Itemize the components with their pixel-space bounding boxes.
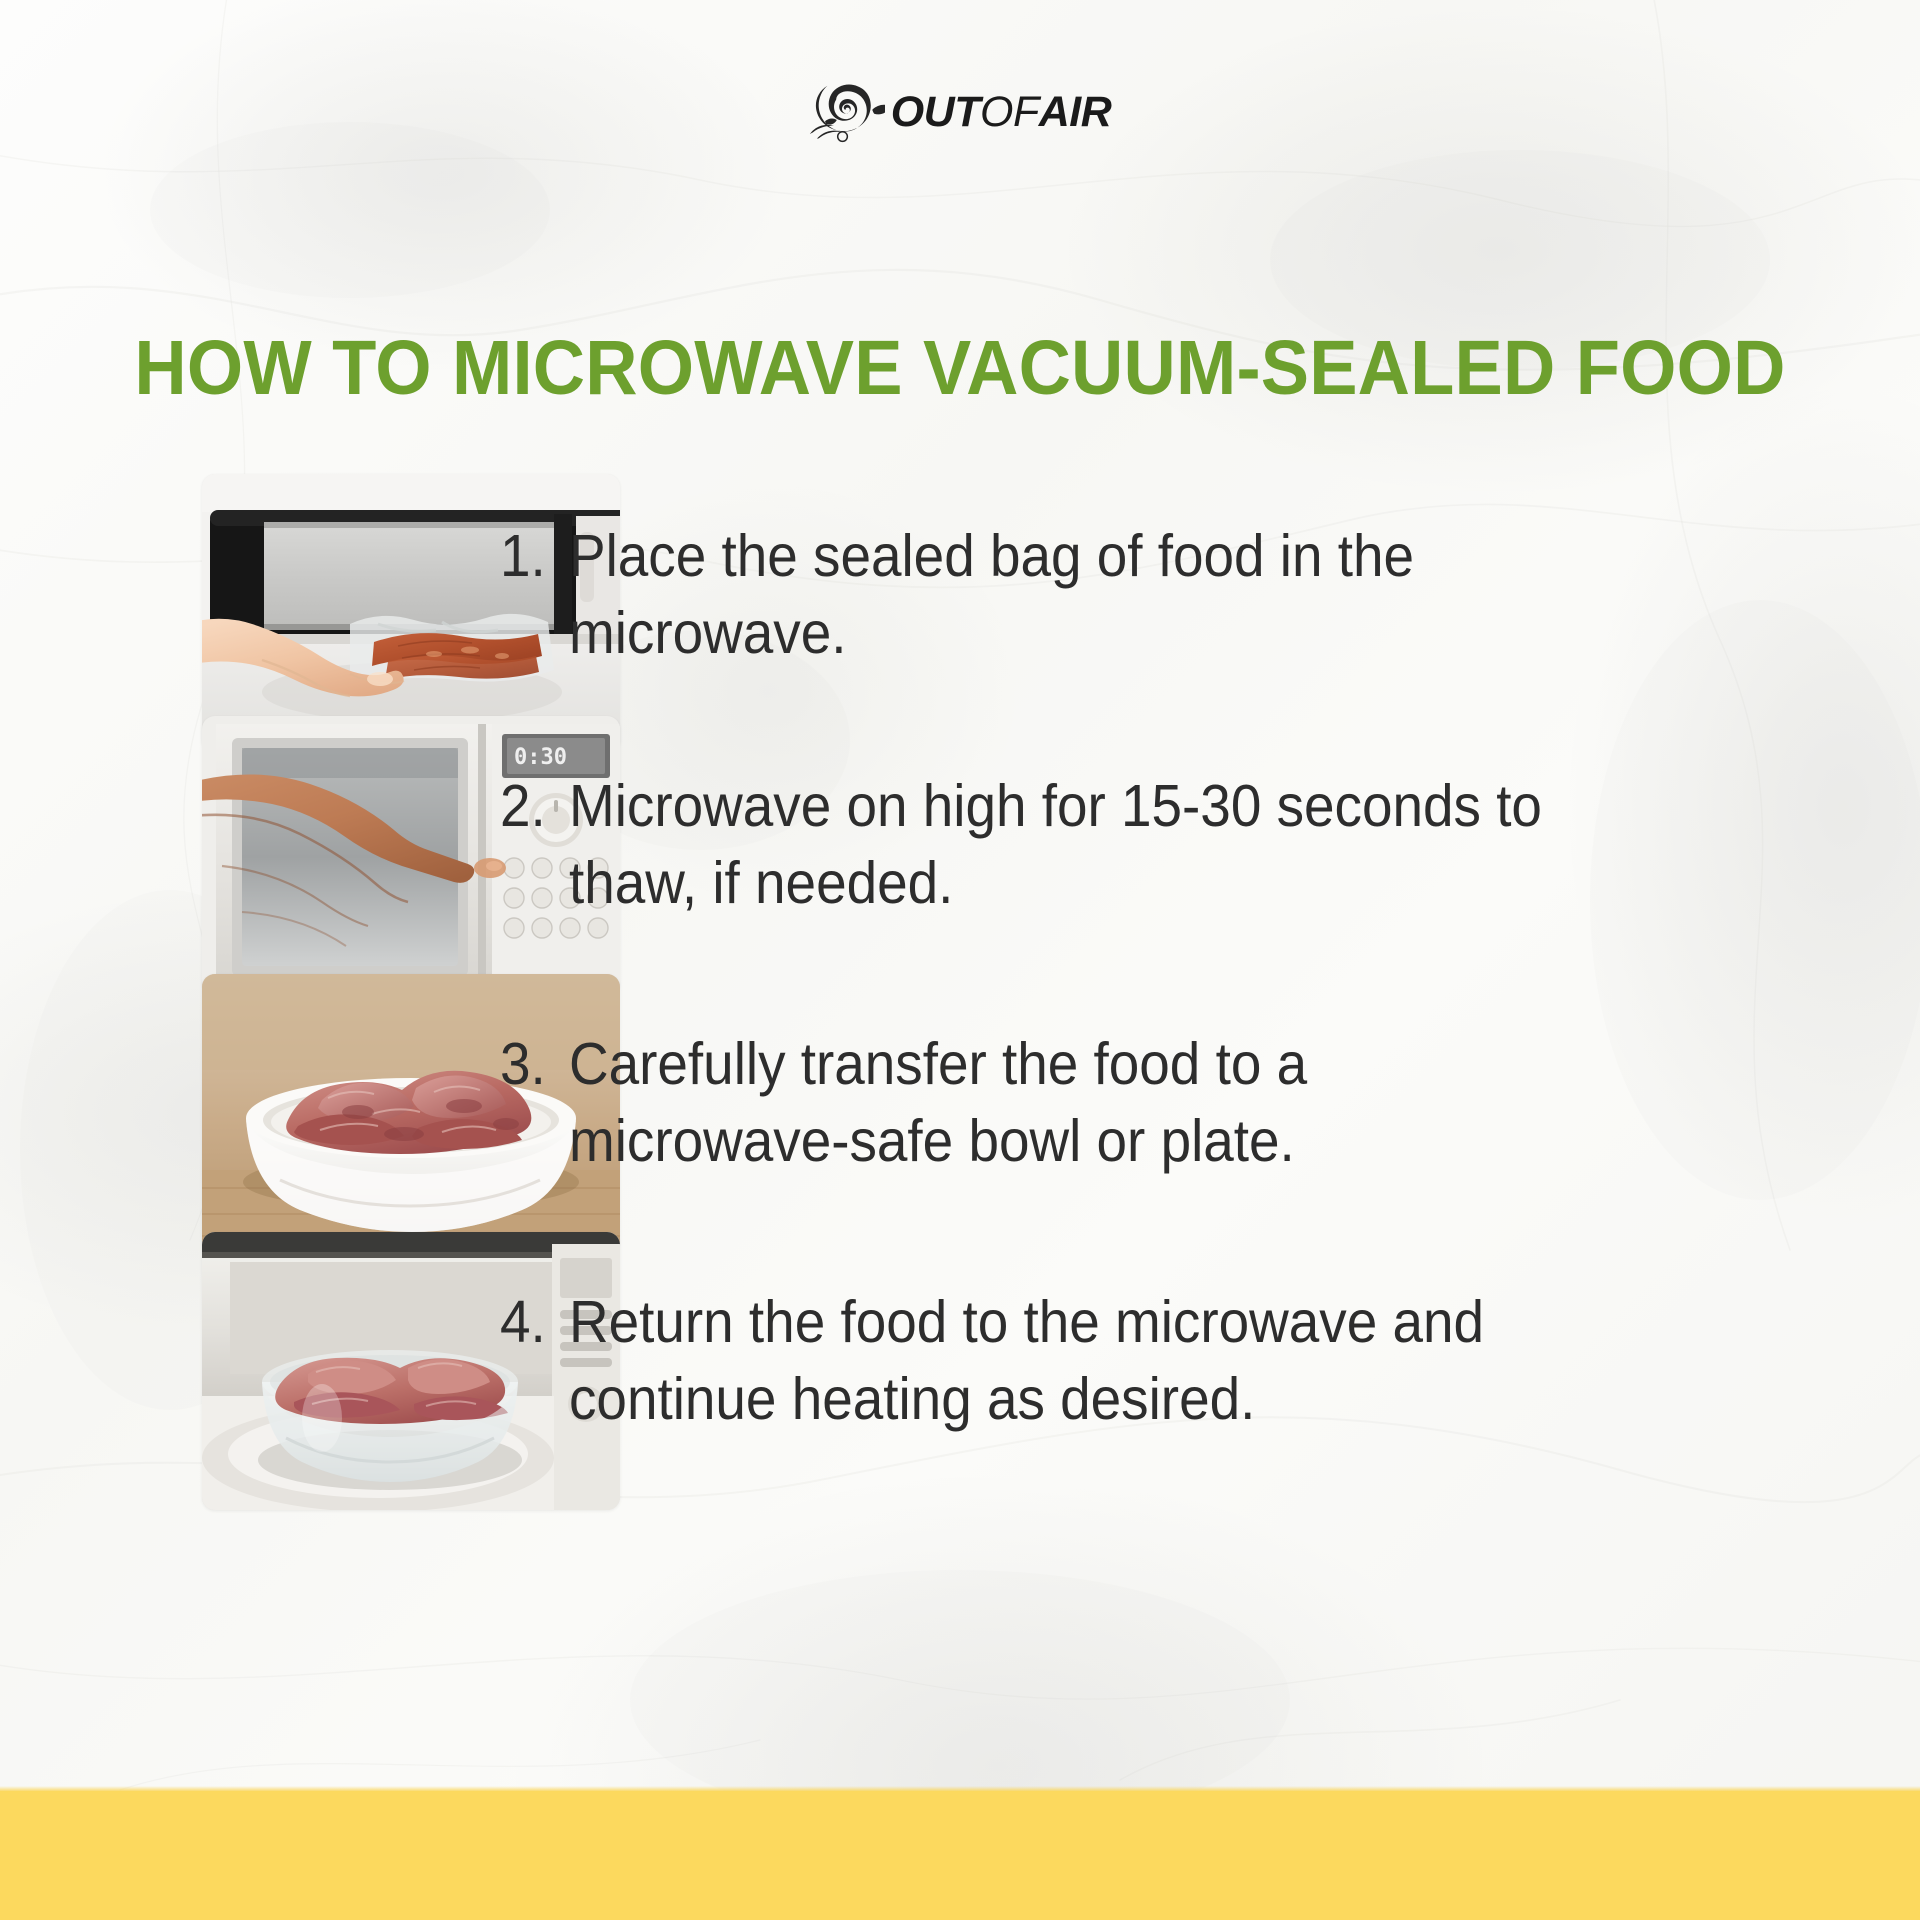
steps-list: 1. Place the sealed bag of food in the m…: [0, 474, 1920, 1490]
brand-wordmark: OUTOFAIR: [891, 91, 1112, 134]
infographic-page: OUTOFAIR HOW TO MICROWAVE VACUUM-SEALED …: [0, 0, 1920, 1920]
step-description: Carefully transfer the food to a microwa…: [569, 1026, 1555, 1179]
step-3-text-wrap: 3. Carefully transfer the food to a micr…: [420, 974, 1920, 1232]
step-1-text-wrap: 1. Place the sealed bag of food in the m…: [420, 474, 1920, 716]
brand-logo: OUTOFAIR: [0, 72, 1920, 152]
step-description: Return the food to the microwave and con…: [569, 1284, 1555, 1437]
step-2-text-wrap: 2. Microwave on high for 15-30 seconds t…: [420, 716, 1920, 974]
step-item: 3. Carefully transfer the food to a micr…: [0, 974, 1920, 1232]
step-2-image: 0:30: [202, 716, 620, 994]
step-item: 4. Return the food to the microwave and …: [0, 1232, 1920, 1490]
brand-name-out: OUT: [891, 88, 980, 136]
step-number: 2.: [500, 768, 564, 845]
step-3-image: [202, 974, 620, 1252]
step-number: 1.: [500, 518, 564, 595]
step-number: 4.: [500, 1284, 564, 1361]
step-item: 1. Place the sealed bag of food in the m…: [0, 474, 1920, 716]
brand-name-air: AIR: [1039, 88, 1112, 136]
brand-name-of: OF: [980, 88, 1039, 136]
step-3-thumbnail-wrap: [0, 974, 420, 1252]
swirl-leaf-icon: [809, 80, 885, 144]
step-2-thumbnail-wrap: 0:30: [0, 716, 420, 994]
step-description: Place the sealed bag of food in the micr…: [569, 518, 1555, 671]
bottom-band: [0, 1791, 1920, 1920]
step-4-image: [202, 1232, 620, 1510]
step-4-thumbnail-wrap: [0, 1232, 420, 1510]
step-description: Microwave on high for 15-30 seconds to t…: [569, 768, 1555, 921]
step-number: 3.: [500, 1026, 564, 1103]
svg-text:0:30: 0:30: [514, 745, 567, 770]
page-title: HOW TO MICROWAVE VACUUM-SEALED FOOD: [58, 328, 1863, 409]
step-1-thumbnail-wrap: [0, 474, 420, 752]
step-1-image: [202, 474, 620, 752]
step-4-text-wrap: 4. Return the food to the microwave and …: [420, 1232, 1920, 1490]
step-item: 0:30: [0, 716, 1920, 974]
